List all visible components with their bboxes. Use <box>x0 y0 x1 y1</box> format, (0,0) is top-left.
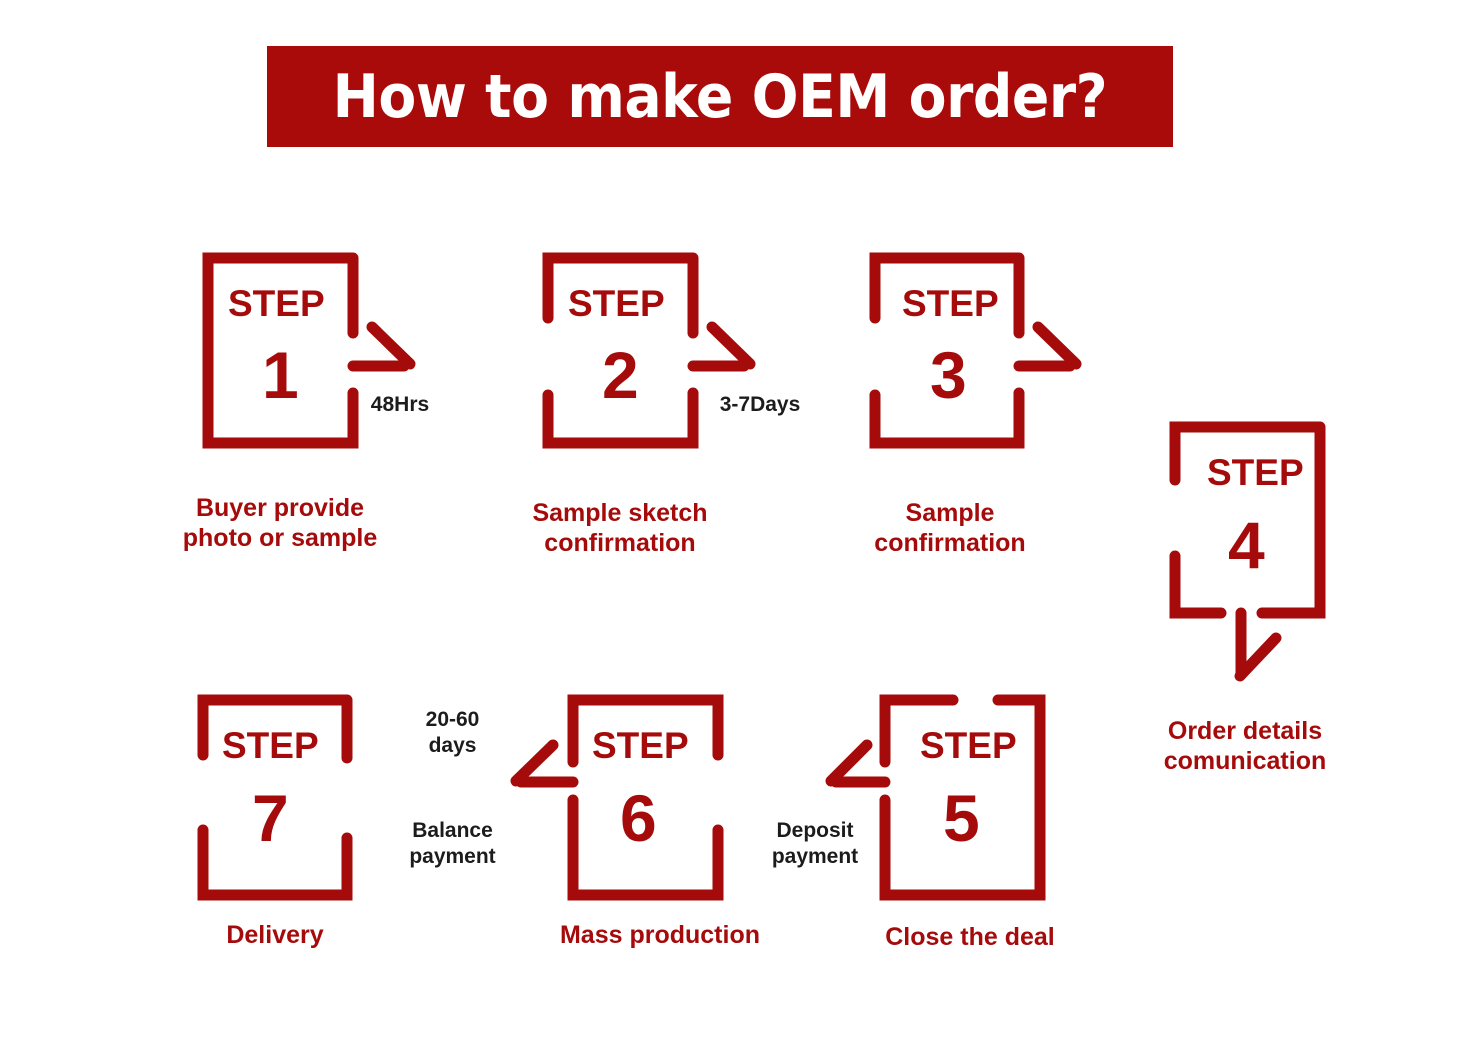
step-6-number: 6 <box>620 785 657 851</box>
step-5-step-word: STEP <box>920 725 1017 767</box>
step-5-to-step-6-arrow[interactable] <box>831 745 885 782</box>
step-5-number: 5 <box>943 785 980 851</box>
step-6-caption: Mass production <box>510 920 810 950</box>
step-6-to-step-7-arrow[interactable] <box>516 745 573 782</box>
step-2-step-word: STEP <box>568 283 665 325</box>
step-6-step-word: STEP <box>592 725 689 767</box>
step-7-step-word: STEP <box>222 725 319 767</box>
step-5-caption: Close the deal <box>820 922 1120 952</box>
step-6-duration-payment: Balance payment <box>385 818 520 871</box>
step-1-to-step-2-arrow[interactable] <box>353 327 410 366</box>
step-7-number: 7 <box>252 785 289 851</box>
step-3-to-step-4-arrow[interactable] <box>1019 327 1076 366</box>
step-2-to-step-3-arrow[interactable] <box>693 327 750 366</box>
step-4-caption: Order details comunication <box>1095 716 1395 776</box>
step-1-caption: Buyer provide photo or sample <box>130 493 430 553</box>
infographic-canvas: How to make OEM order? <box>0 0 1483 1055</box>
step-1-number: 1 <box>262 342 299 408</box>
step-2-duration: 3-7Days <box>680 392 840 418</box>
step-3-number: 3 <box>930 342 967 408</box>
step-7-caption: Delivery <box>125 920 425 950</box>
step-5-duration: Deposit payment <box>745 818 885 871</box>
step-1-step-word: STEP <box>228 283 325 325</box>
step-6-duration-days: 20-60 days <box>385 707 520 760</box>
step-2-caption: Sample sketch confirmation <box>470 498 770 558</box>
step-1-duration: 48Hrs <box>330 392 470 418</box>
step-3-caption: Sample confirmation <box>800 498 1100 558</box>
step-4-number: 4 <box>1228 512 1265 578</box>
step-4-step-word: STEP <box>1207 452 1304 494</box>
step-4-to-step-5-arrow[interactable] <box>1240 613 1276 676</box>
step-2-number: 2 <box>602 342 639 408</box>
step-3-step-word: STEP <box>902 283 999 325</box>
